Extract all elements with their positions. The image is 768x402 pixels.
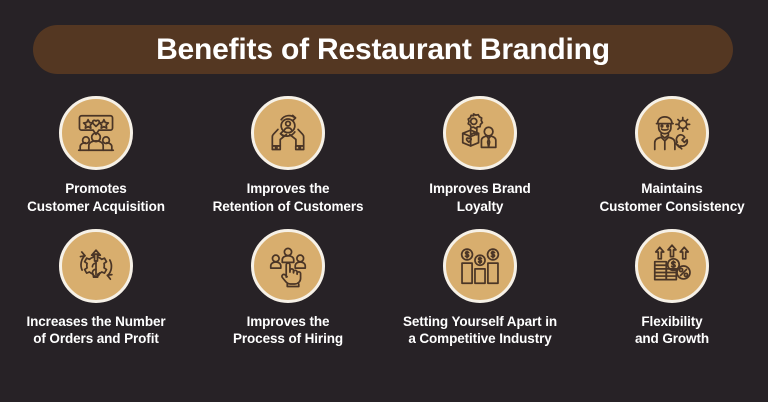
benefit-icon-badge bbox=[251, 229, 325, 303]
title-banner: Benefits of Restaurant Branding bbox=[33, 25, 733, 74]
benefits-grid: Promotes Customer Acquisition bbox=[0, 96, 768, 348]
benefit-item-maintains-customer-consistency[interactable]: Maintains Customer Consistency bbox=[576, 96, 768, 216]
quality-badge-box-businessman-icon bbox=[457, 110, 503, 156]
benefit-icon-badge bbox=[251, 96, 325, 170]
benefit-item-improves-retention-of-customers[interactable]: Improves the Retention of Customers bbox=[192, 96, 384, 216]
benefit-item-setting-yourself-apart[interactable]: Setting Yourself Apart in a Competitive … bbox=[384, 229, 576, 349]
page-title: Benefits of Restaurant Branding bbox=[156, 35, 610, 65]
hand-selecting-people-icon bbox=[265, 243, 311, 289]
benefit-item-improves-brand-loyalty[interactable]: Improves Brand Loyalty bbox=[384, 96, 576, 216]
benefit-icon-badge bbox=[635, 96, 709, 170]
benefit-icon-badge bbox=[443, 229, 517, 303]
infographic-poster: Benefits of Restaurant Branding bbox=[0, 0, 768, 402]
benefit-label: Flexibility and Growth bbox=[635, 313, 709, 349]
benefit-label: Promotes Customer Acquisition bbox=[27, 180, 165, 216]
coin-stacks-growth-arrows-percent-icon bbox=[649, 243, 695, 289]
gear-up-arrow-cycle-icon bbox=[73, 243, 119, 289]
benefit-icon-badge bbox=[443, 96, 517, 170]
benefit-icon-badge bbox=[635, 229, 709, 303]
benefit-label: Setting Yourself Apart in a Competitive … bbox=[403, 313, 557, 349]
benefit-label: Improves Brand Loyalty bbox=[429, 180, 530, 216]
benefit-item-increases-number-of-orders-and-profit[interactable]: Increases the Number of Orders and Profi… bbox=[0, 229, 192, 349]
benefit-item-promotes-customer-acquisition[interactable]: Promotes Customer Acquisition bbox=[0, 96, 192, 216]
bar-chart-money-coins-icon bbox=[457, 243, 503, 289]
benefit-label: Maintains Customer Consistency bbox=[599, 180, 744, 216]
benefit-label: Improves the Process of Hiring bbox=[233, 313, 343, 349]
review-speech-bubble-people-icon bbox=[73, 110, 119, 156]
benefit-icon-badge bbox=[59, 229, 133, 303]
benefit-label: Increases the Number of Orders and Profi… bbox=[26, 313, 165, 349]
benefit-item-improves-process-of-hiring[interactable]: Improves the Process of Hiring bbox=[192, 229, 384, 349]
worker-gear-wrench-icon bbox=[649, 110, 695, 156]
benefit-label: Improves the Retention of Customers bbox=[213, 180, 364, 216]
hands-holding-customer-retention-cycle-icon bbox=[265, 110, 311, 156]
benefit-item-flexibility-and-growth[interactable]: Flexibility and Growth bbox=[576, 229, 768, 349]
benefit-icon-badge bbox=[59, 96, 133, 170]
